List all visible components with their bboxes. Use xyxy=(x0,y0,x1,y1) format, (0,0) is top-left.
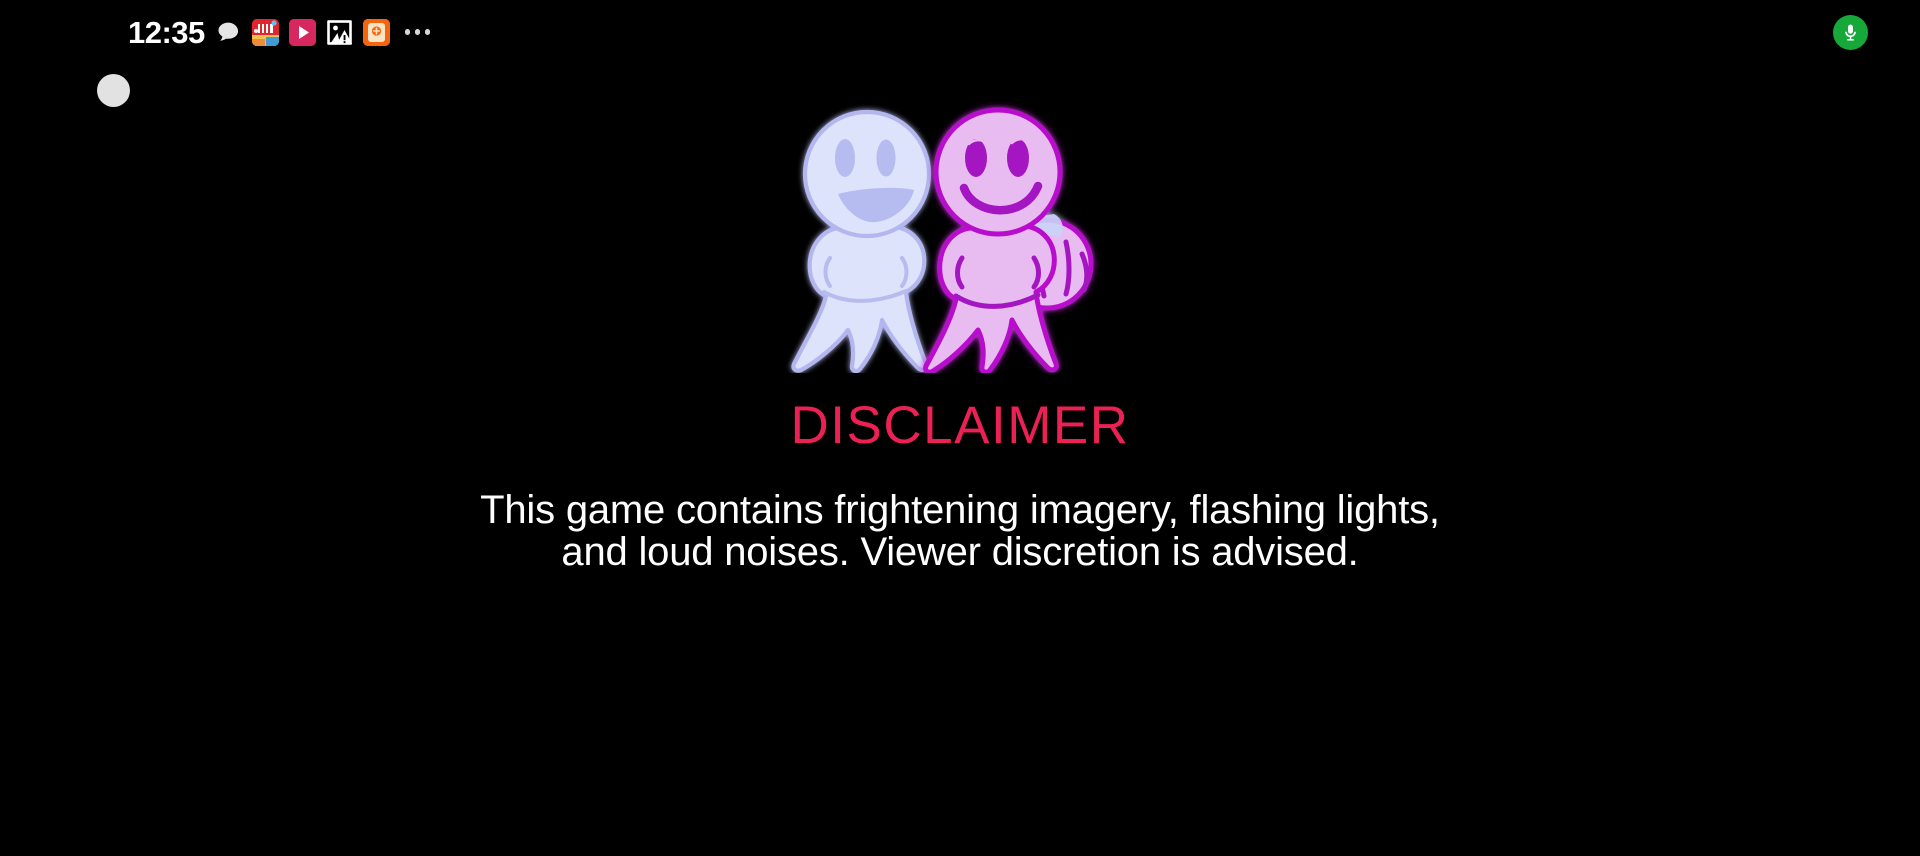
disclaimer-text: This game contains frightening imagery, … xyxy=(400,489,1520,574)
blue-ghost-character xyxy=(793,112,929,371)
ellipsis-dot xyxy=(425,29,431,35)
pointer-dot[interactable] xyxy=(97,74,130,107)
disclaimer-line-1: This game contains frightening imagery, … xyxy=(400,489,1520,531)
image-warning-icon[interactable] xyxy=(326,19,353,46)
page-title: DISCLAIMER xyxy=(791,399,1130,452)
disclaimer-screen: 12:35 xyxy=(0,0,1920,856)
ellipsis-dot xyxy=(415,29,421,35)
status-bar-clock: 12:35 xyxy=(128,17,205,48)
disclaimer-line-2: and loud noises. Viewer discretion is ad… xyxy=(400,531,1520,573)
ellipsis-dot xyxy=(405,29,411,35)
status-bar-right-group xyxy=(1780,0,1920,64)
orange-app-icon[interactable] xyxy=(363,19,390,46)
status-bar-left-group: 12:35 xyxy=(128,17,430,48)
microphone-icon xyxy=(1840,22,1861,43)
chat-bubble-icon[interactable] xyxy=(215,19,242,46)
more-icons-ellipsis[interactable] xyxy=(405,29,431,35)
microphone-recording-badge[interactable] xyxy=(1833,15,1868,50)
game-app-icon[interactable] xyxy=(252,19,279,46)
play-app-icon[interactable] xyxy=(289,19,316,46)
purple-waving-character xyxy=(926,110,1091,372)
main-content: DISCLAIMER This game contains frightenin… xyxy=(0,0,1920,856)
two-characters-illustration xyxy=(750,88,1170,373)
